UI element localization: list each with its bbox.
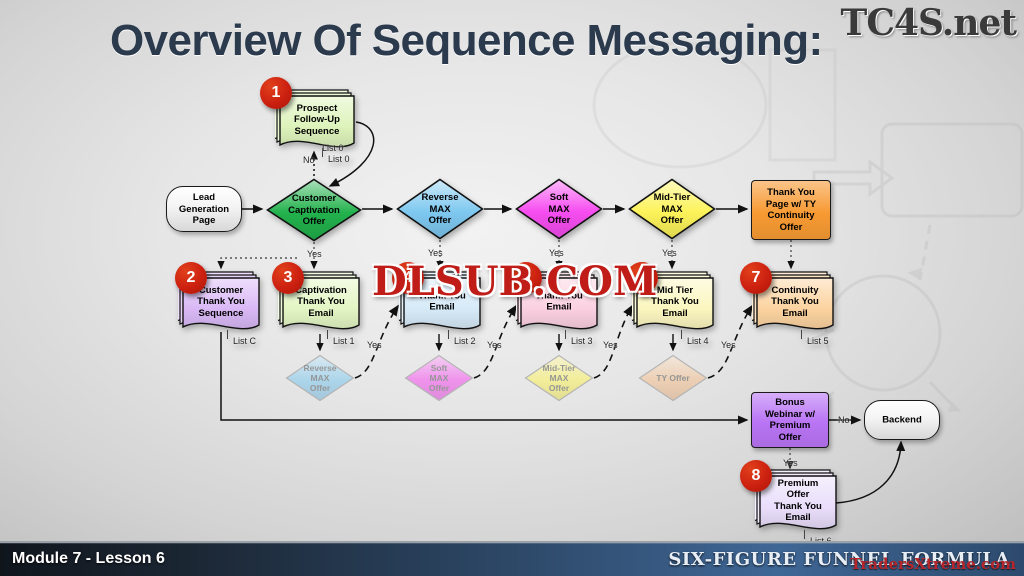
- node-label: Reverse MAX Offer: [396, 192, 484, 227]
- node-label: Premium Offer Thank You Email: [760, 478, 836, 524]
- step-badge-1: 1: [260, 77, 292, 109]
- node-prospect-follow-up: List 0Prospect Follow-Up Sequence: [280, 94, 354, 150]
- node-mid-tier-max-offer: Mid-Tier MAX Offer: [628, 178, 716, 240]
- edge-label-4: Yes: [549, 248, 564, 258]
- list-tick: [801, 330, 802, 339]
- edge-label-11: Yes: [783, 458, 798, 468]
- edge-label-1: No: [303, 155, 315, 165]
- node-thank-you-page-ty: Thank You Page w/ TY Continuity Offer: [751, 180, 831, 240]
- node-ghost-mid-tier-max: Mid-Tier MAX Offer: [524, 354, 594, 402]
- edge-label-5: Yes: [662, 248, 677, 258]
- node-ghost-soft-max: Soft MAX Offer: [404, 354, 474, 402]
- list-tick: [448, 330, 449, 339]
- page-title: Overview Of Sequence Messaging:: [110, 16, 823, 66]
- step-badge-7: 7: [740, 262, 772, 294]
- slide-canvas: Overview Of Sequence Messaging: Lead Gen…: [0, 0, 1024, 576]
- node-lead-generation-page: Lead Generation Page: [166, 186, 242, 232]
- list-label: List 2: [454, 336, 476, 346]
- list-tick: [227, 330, 228, 339]
- node-customer-captivation: Customer Captivation Offer: [266, 178, 362, 242]
- node-bonus-webinar: Bonus Webinar w/ Premium Offer: [751, 392, 829, 448]
- step-badge-3: 3: [272, 262, 304, 294]
- module-lesson-label: Module 7 - Lesson 6: [12, 550, 165, 568]
- watermark-tradersxtreme: TradersXtreme.com: [850, 555, 1016, 573]
- list-label: List 1: [333, 336, 355, 346]
- node-label: Mid-Tier MAX Offer: [524, 363, 594, 393]
- edge-label-7: Yes: [487, 340, 502, 350]
- node-label: Reverse MAX Offer: [285, 363, 355, 393]
- node-reverse-max-offer: Reverse MAX Offer: [396, 178, 484, 240]
- node-label: Bonus Webinar w/ Premium Offer: [752, 397, 828, 443]
- node-soft-max-offer: Soft MAX Offer: [515, 178, 603, 240]
- node-label: Soft MAX Offer: [515, 192, 603, 227]
- edge-label-8: Yes: [603, 340, 618, 350]
- list-tick: [327, 330, 328, 339]
- node-label: Backend: [865, 414, 939, 426]
- node-premium-offer-thank-you: List 6Premium Offer Thank You Email: [760, 474, 836, 532]
- watermark-tc4s: TC4S.net: [841, 2, 1016, 44]
- edge-label-2: Yes: [307, 249, 322, 259]
- edge-label-0: List 0: [322, 143, 344, 153]
- list-tick: [681, 330, 682, 339]
- node-label: Customer Captivation Offer: [266, 193, 362, 228]
- list-label: List 0: [328, 154, 350, 164]
- edge-label-9: Yes: [721, 340, 736, 350]
- edge-label-10: No: [838, 415, 850, 425]
- step-badge-2: 2: [175, 262, 207, 294]
- step-badge-8: 8: [740, 460, 772, 492]
- node-ghost-ty-offer: TY Offer: [638, 354, 708, 402]
- footer-bar: Module 7 - Lesson 6 SIX-FIGURE FUNNEL FO…: [0, 541, 1024, 576]
- node-backend: Backend: [864, 400, 940, 440]
- list-label: List 5: [807, 336, 829, 346]
- node-label: Soft MAX Offer: [404, 363, 474, 393]
- edge-label-6: Yes: [367, 340, 382, 350]
- node-label: Prospect Follow-Up Sequence: [280, 103, 354, 138]
- watermark-dlsub: DLSUB.COM: [372, 258, 657, 305]
- edge-label-3: Yes: [428, 248, 443, 258]
- node-label: Continuity Thank You Email: [757, 285, 833, 320]
- list-tick: [804, 530, 805, 539]
- node-label: Mid-Tier MAX Offer: [628, 192, 716, 227]
- list-label: List 3: [571, 336, 593, 346]
- node-label: Lead Generation Page: [167, 192, 241, 227]
- list-label: List 4: [687, 336, 709, 346]
- list-label: List C: [233, 336, 256, 346]
- node-label: Thank You Page w/ TY Continuity Offer: [752, 187, 830, 233]
- list-tick: [565, 330, 566, 339]
- node-ghost-reverse-max: Reverse MAX Offer: [285, 354, 355, 402]
- node-label: TY Offer: [638, 373, 708, 383]
